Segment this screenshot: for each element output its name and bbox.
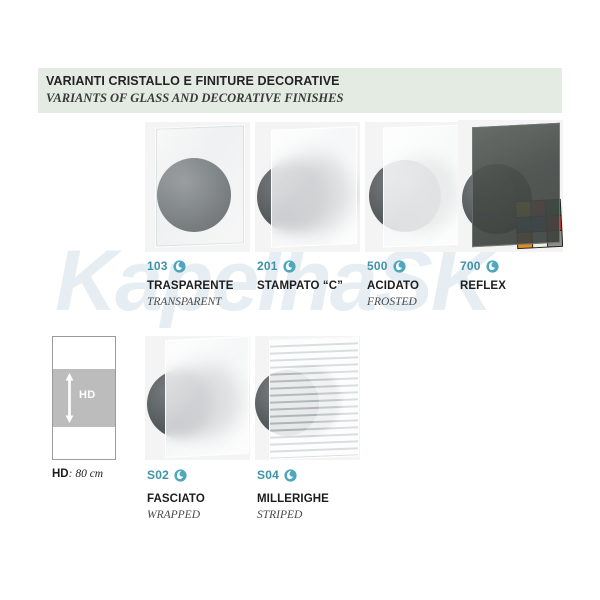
sample-name-en: STRIPED bbox=[257, 509, 302, 521]
hd-band-label: HD bbox=[79, 389, 96, 401]
sample-card-103[interactable]: 103 TRASPARENTE TRANSPARENT bbox=[145, 122, 250, 307]
hd-caption-value: : 80 cm bbox=[69, 468, 104, 480]
sample-code: 700 bbox=[460, 259, 481, 273]
sample-name-en: WRAPPED bbox=[147, 509, 200, 521]
sample-thumb-patterned bbox=[255, 122, 360, 252]
sample-code-row-201: 201 bbox=[257, 259, 296, 273]
glass-droplet-icon bbox=[284, 469, 297, 482]
hd-caption: HD: 80 cm bbox=[52, 468, 103, 480]
sample-card-S02[interactable]: S02 FASCIATO WRAPPED bbox=[145, 336, 250, 521]
sample-code: 500 bbox=[367, 259, 388, 273]
sample-card-201[interactable]: 201 STAMPATO “C” bbox=[255, 122, 360, 307]
sample-card-500[interactable]: 500 ACIDATO FROSTED bbox=[365, 122, 470, 307]
glass-droplet-icon bbox=[393, 260, 406, 273]
glass-droplet-icon bbox=[283, 260, 296, 273]
sample-thumb-wrapped bbox=[145, 336, 250, 460]
sample-name-it: FASCIATO bbox=[147, 493, 205, 505]
hd-double-arrow-icon bbox=[65, 373, 74, 423]
sample-thumb-frosted bbox=[365, 122, 470, 252]
sample-name-it: REFLEX bbox=[460, 280, 506, 292]
hd-dimension-diagram: HD bbox=[52, 336, 116, 460]
sample-code: S02 bbox=[147, 468, 169, 482]
page-subtitle: VARIANTS OF GLASS AND DECORATIVE FINISHE… bbox=[46, 91, 343, 106]
sample-thumb-transparent bbox=[145, 122, 250, 252]
glass-droplet-icon bbox=[174, 469, 187, 482]
sample-name-it: TRASPARENTE bbox=[147, 280, 234, 292]
sample-name-it: MILLERIGHE bbox=[257, 493, 329, 505]
glass-droplet-icon bbox=[486, 260, 499, 273]
sample-name-it: ACIDATO bbox=[367, 280, 419, 292]
sample-name-en: TRANSPARENT bbox=[147, 296, 222, 308]
sample-code-row-S02: S02 bbox=[147, 468, 187, 482]
sample-code-row-500: 500 bbox=[367, 259, 406, 273]
sample-card-700[interactable]: 700 REFLEX bbox=[458, 120, 563, 305]
sample-code-row-103: 103 bbox=[147, 259, 186, 273]
sample-thumb-striped bbox=[255, 336, 360, 460]
sample-code: 201 bbox=[257, 259, 278, 273]
sample-thumb-reflex bbox=[458, 120, 563, 252]
sample-code: S04 bbox=[257, 468, 279, 482]
sample-code-row-S04: S04 bbox=[257, 468, 297, 482]
sample-name-en: FROSTED bbox=[367, 296, 417, 308]
section-header-band: VARIANTI CRISTALLO E FINITURE DECORATIVE… bbox=[38, 68, 562, 113]
glass-droplet-icon bbox=[173, 260, 186, 273]
sample-code-row-700: 700 bbox=[460, 259, 499, 273]
sample-card-S04[interactable]: S04 MILLERIGHE STRIPED bbox=[255, 336, 360, 521]
hd-caption-label: HD bbox=[52, 468, 69, 480]
sample-name-it: STAMPATO “C” bbox=[257, 280, 343, 292]
sample-code: 103 bbox=[147, 259, 168, 273]
page-title: VARIANTI CRISTALLO E FINITURE DECORATIVE bbox=[46, 74, 340, 88]
